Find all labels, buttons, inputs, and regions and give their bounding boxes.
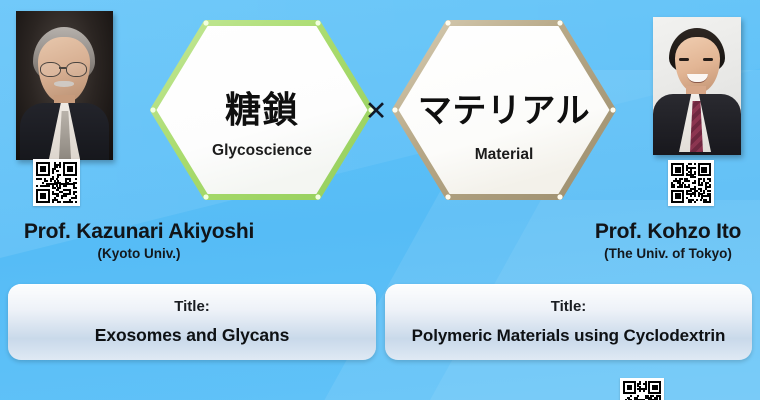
title-panel-akiyoshi: Title: Exosomes and Glycans xyxy=(8,284,376,360)
hexagon-title-en: Glycoscience xyxy=(150,142,374,160)
glasses-left-lens-icon xyxy=(40,62,61,77)
hexagon-title-jp: 糖鎖 xyxy=(150,92,374,128)
speaker-name: Prof. Kazunari Akiyoshi xyxy=(10,219,268,244)
speaker-name-block-ito: Prof. Kohzo Ito (The Univ. of Tokyo) xyxy=(580,219,756,263)
portrait-akiyoshi xyxy=(16,11,113,160)
glasses-right-lens-icon xyxy=(66,62,87,77)
qr-code-ito[interactable] xyxy=(668,160,714,206)
qr-code-bottom[interactable] xyxy=(620,378,664,400)
hexagon-glycoscience: 糖鎖 Glycoscience xyxy=(150,20,374,200)
title-label: Title: xyxy=(174,298,210,316)
speaker-affiliation: (The Univ. of Tokyo) xyxy=(580,245,756,263)
hexagon-title-en: Material xyxy=(392,146,616,164)
speaker-name: Prof. Kohzo Ito xyxy=(580,219,756,244)
poster-canvas: 糖鎖 Glycoscience ✕ xyxy=(0,0,760,400)
title-value: Polymeric Materials using Cyclodextrin xyxy=(412,325,726,346)
hexagon-material: マテリアル Material xyxy=(392,20,616,200)
qr-code-akiyoshi[interactable] xyxy=(33,159,80,206)
title-panel-ito: Title: Polymeric Materials using Cyclode… xyxy=(385,284,752,360)
title-value: Exosomes and Glycans xyxy=(95,325,289,346)
title-label: Title: xyxy=(551,298,587,316)
portrait-moustache xyxy=(54,81,74,87)
speaker-name-block-akiyoshi: Prof. Kazunari Akiyoshi (Kyoto Univ.) xyxy=(10,219,268,263)
speaker-affiliation: (Kyoto Univ.) xyxy=(10,245,268,263)
glasses-bridge-icon xyxy=(59,67,66,69)
multiply-icon: ✕ xyxy=(364,98,388,126)
portrait-eye-right xyxy=(703,58,713,61)
hexagon-title-jp: マテリアル xyxy=(392,94,616,128)
portrait-eye-left xyxy=(679,58,689,61)
